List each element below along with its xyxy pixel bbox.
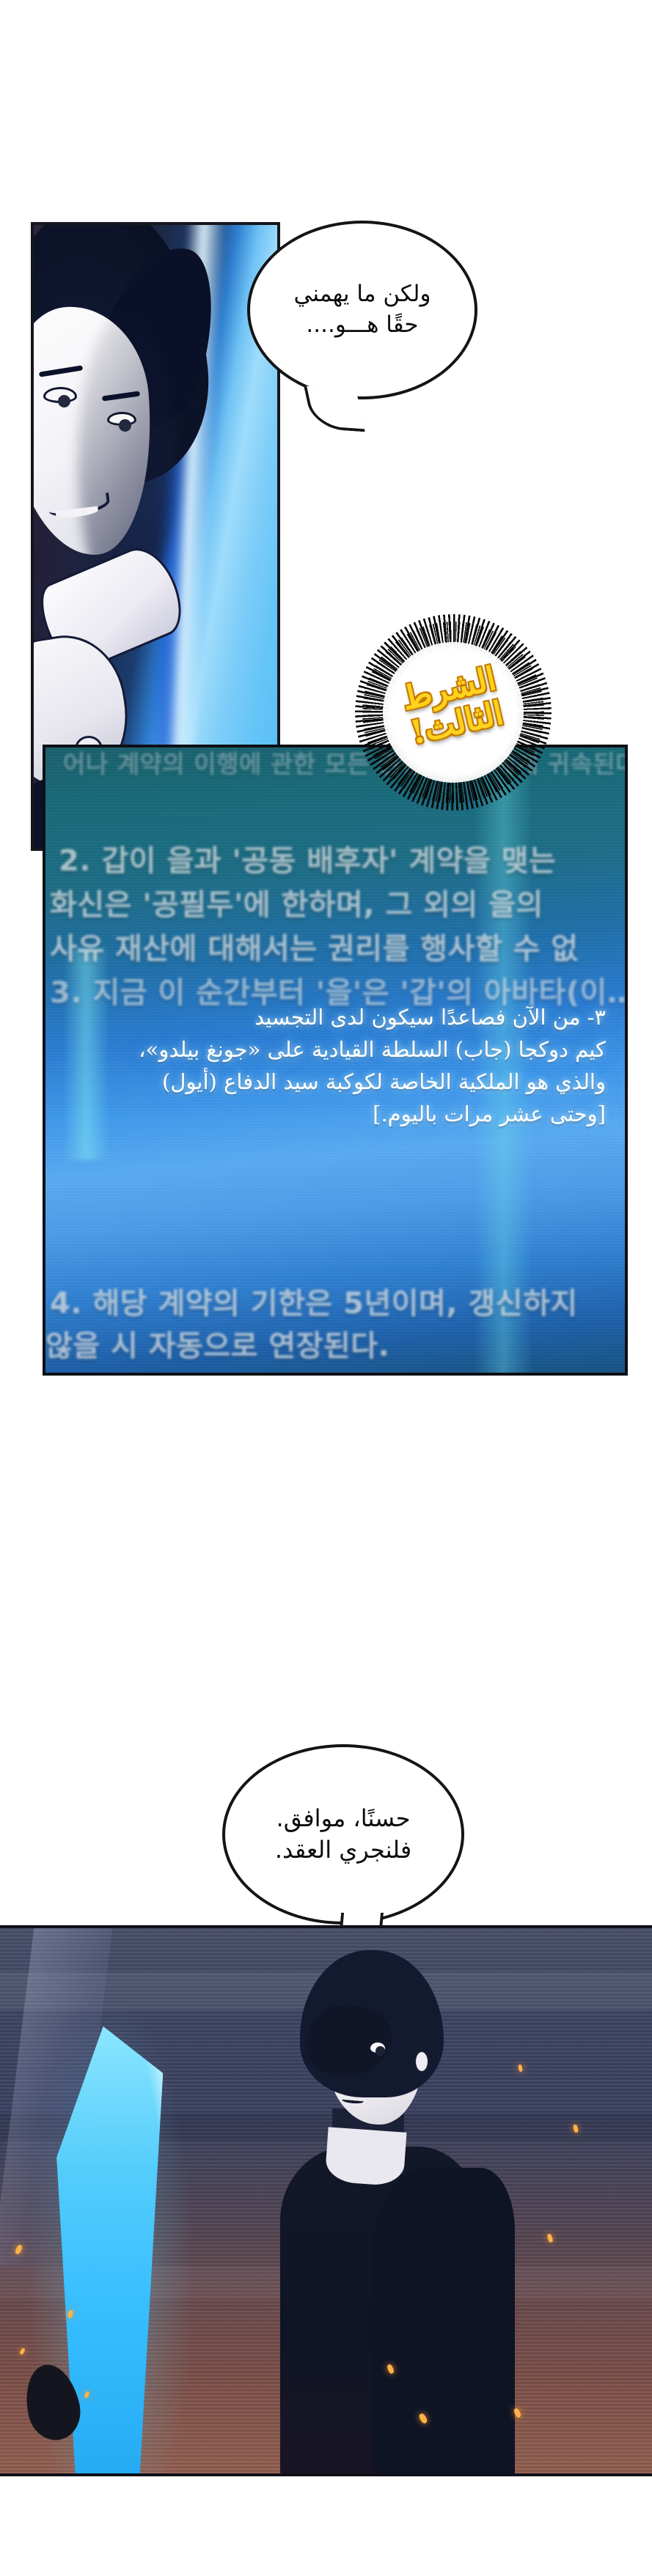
speech-bubble-bottom-text: حسنًا، موافق. فلنجري العقد. bbox=[262, 1803, 425, 1866]
thought-bubble-top-line-2: حقًا هـــو.... bbox=[294, 310, 431, 341]
panel-holographic-contract: 어나 계약의 이행에 관한 모든 권한은 '갑'에게 귀속된다. 2. 갑이 을… bbox=[43, 745, 628, 1376]
boy-ear bbox=[414, 2051, 429, 2073]
contract-arabic-line-3: والذي هو الملكية الخاصة لكوكبة سيد الدفا… bbox=[65, 1066, 606, 1098]
thought-bubble-top-line-1: ولكن ما يهمني bbox=[294, 279, 431, 310]
contract-korean-line-2: 화신은 '공필두'에 한하며, 그 외의 을의 bbox=[50, 881, 543, 923]
contract-arabic-line-2: كيم دوكجا (جاب) السلطة القيادية على «جون… bbox=[65, 1033, 606, 1066]
boy-pupil bbox=[376, 2046, 385, 2056]
speech-bubble-bottom-line-1: حسنًا، موافق. bbox=[275, 1803, 411, 1834]
thought-bubble-top: ولكن ما يهمني حقًا هـــو.... bbox=[247, 221, 477, 399]
boy-shoulder bbox=[372, 2168, 516, 2476]
contract-arabic-line-4: [وحتى عشر مرات باليوم.] bbox=[65, 1098, 606, 1130]
contract-arabic-overlay: ٣- من الآن فصاعدًا سيكون لدى التجسيد كيم… bbox=[65, 1001, 606, 1130]
starburst-third-condition: الشرط الثالث! bbox=[355, 614, 552, 811]
panel-wide-boy-with-blade bbox=[0, 1925, 652, 2476]
bottom-gutter bbox=[0, 2476, 652, 2576]
contract-korean-line-1: 2. 갑이 을과 '공동 배후자' 계약을 맺는 bbox=[59, 837, 556, 879]
contract-korean-line-3: 사유 재산에 대해서는 권리를 행사할 수 없 bbox=[50, 925, 579, 967]
contract-korean-line-5: 4. 해당 계약의 기한은 5년이며, 갱신하지 bbox=[50, 1280, 578, 1322]
comic-page: 어나 계약의 이행에 관한 모든 권한은 '갑'에게 귀속된다. 2. 갑이 을… bbox=[0, 0, 652, 2576]
contract-korean-line-6: 않을 시 자동으로 연장된다. bbox=[45, 1322, 389, 1365]
contract-arabic-line-1: ٣- من الآن فصاعدًا سيكون لدى التجسيد bbox=[65, 1001, 606, 1033]
thought-bubble-top-tail bbox=[304, 386, 365, 432]
speech-bubble-bottom-line-2: فلنجري العقد. bbox=[275, 1834, 411, 1866]
speech-bubble-bottom: حسنًا، موافق. فلنجري العقد. bbox=[222, 1744, 464, 1924]
thought-bubble-top-text: ولكن ما يهمني حقًا هـــو.... bbox=[281, 279, 444, 340]
